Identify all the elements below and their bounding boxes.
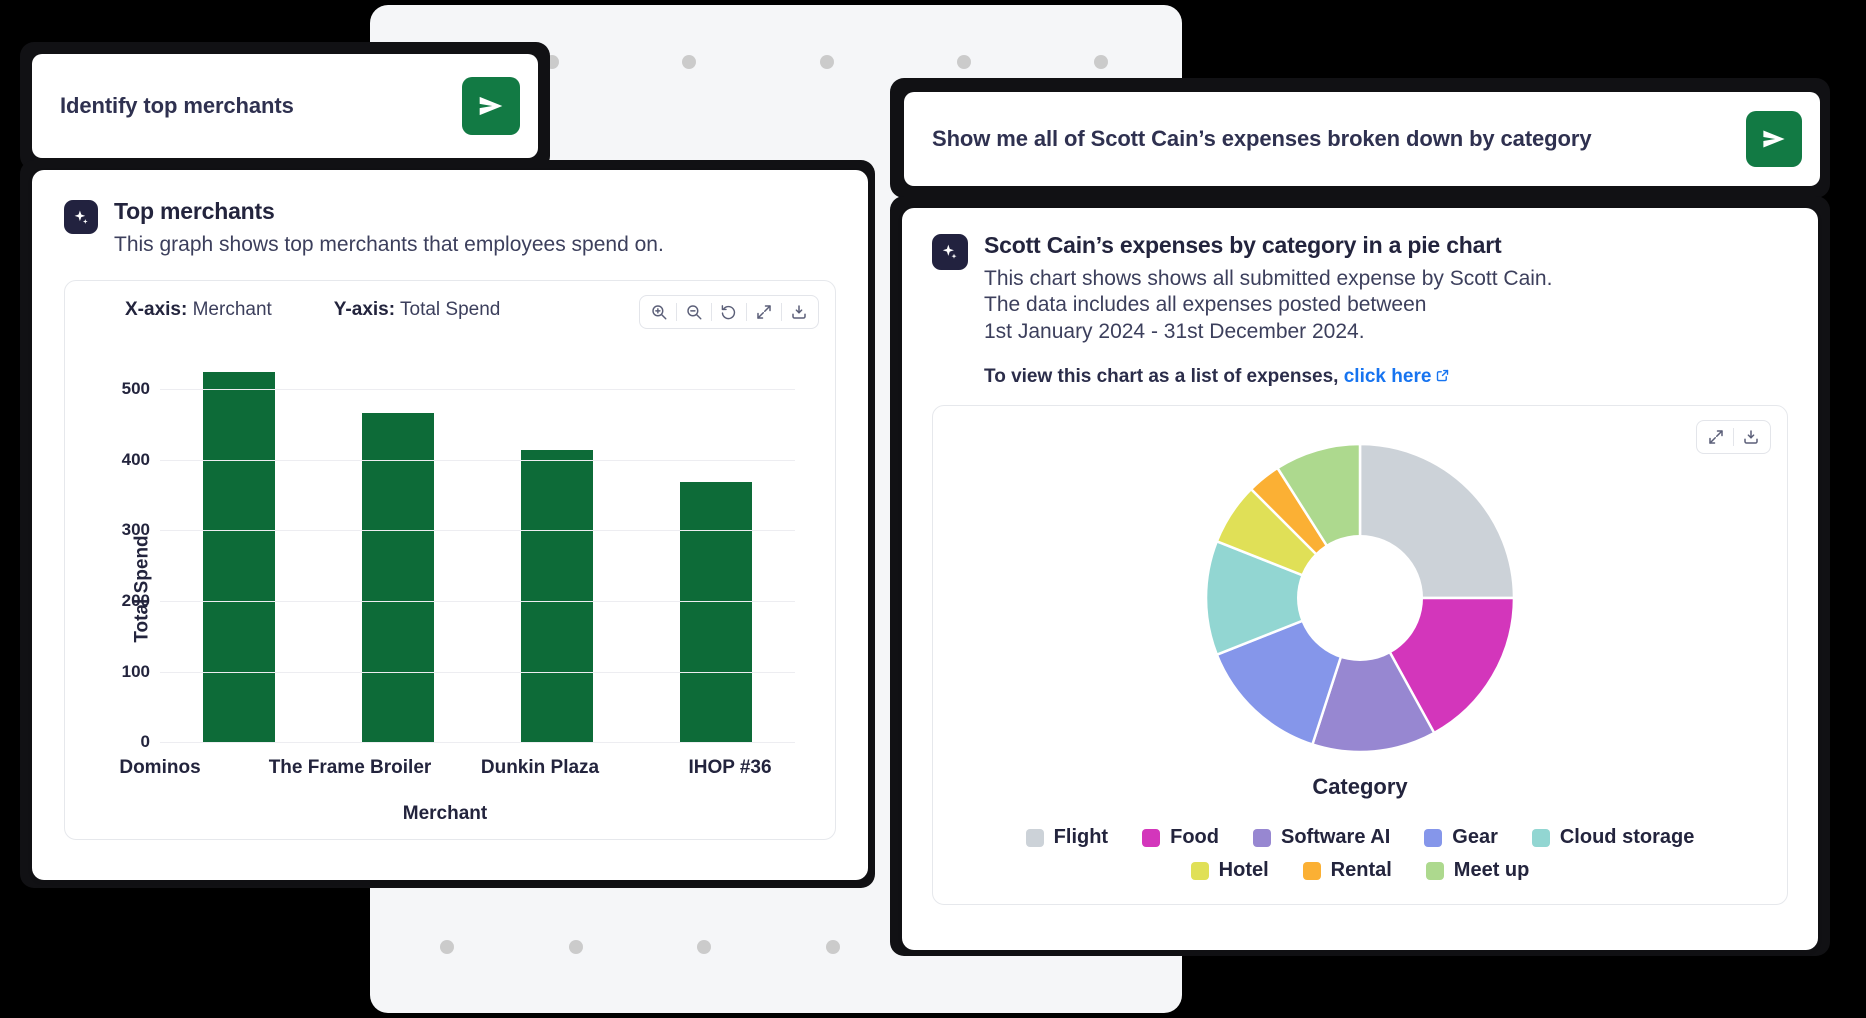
right-prompt-bar[interactable]: Show me all of Scott Cain’s expenses bro…	[904, 92, 1820, 186]
legend-label: Meet up	[1454, 859, 1530, 882]
expand-icon[interactable]	[747, 296, 781, 328]
legend-item[interactable]: Food	[1142, 826, 1219, 849]
link-prefix-text: To view this chart as a list of expenses…	[984, 366, 1338, 387]
right-card-description: This chart shows shows all submitted exp…	[984, 266, 1788, 347]
donut-chart[interactable]	[1204, 442, 1516, 754]
x-tick-label: Dominos	[76, 757, 243, 779]
sheet-dots-bottom	[440, 940, 840, 954]
desc-line-3: 1st January 2024 - 31st December 2024.	[984, 319, 1788, 346]
reset-icon[interactable]	[712, 296, 746, 328]
bar-x-tick-labels: DominosThe Frame BroilerDunkin PlazaIHOP…	[65, 757, 825, 779]
x-tick-label: The Frame Broiler	[266, 757, 433, 779]
legend-item[interactable]: Rental	[1303, 859, 1392, 882]
legend-swatch	[1142, 829, 1160, 847]
desc-line-1: This chart shows shows all submitted exp…	[984, 266, 1788, 293]
legend-item[interactable]: Hotel	[1191, 859, 1269, 882]
legend-item[interactable]: Meet up	[1426, 859, 1530, 882]
bar[interactable]	[521, 450, 593, 743]
bar-chart-frame: X-axis: Merchant Y-axis: Total Spend	[64, 280, 836, 840]
dot	[440, 940, 454, 954]
legend-swatch	[1303, 862, 1321, 880]
right-prompt-text: Show me all of Scott Cain’s expenses bro…	[932, 126, 1591, 152]
legend-title: Category	[933, 774, 1787, 800]
x-axis-key: X-axis:	[125, 299, 187, 320]
click-here-link[interactable]: click here	[1344, 366, 1432, 387]
dot	[1094, 55, 1108, 69]
right-card-header: Scott Cain’s expenses by category in a p…	[932, 232, 1788, 389]
x-tick-label: Dunkin Plaza	[456, 757, 623, 779]
bar-y-axis-title: Total Spend	[132, 536, 154, 643]
legend-item[interactable]: Software AI	[1253, 826, 1390, 849]
legend-label: Flight	[1054, 826, 1108, 849]
zoom-in-icon[interactable]	[642, 296, 676, 328]
y-tick-label: 0	[141, 732, 150, 752]
left-card-title: Top merchants	[114, 198, 836, 226]
dot	[682, 55, 696, 69]
x-tick-label: IHOP #36	[646, 757, 813, 779]
bar-column[interactable]	[170, 347, 310, 743]
dot	[820, 55, 834, 69]
view-as-list-line: To view this chart as a list of expenses…	[984, 366, 1788, 389]
download-icon[interactable]	[782, 296, 816, 328]
y-axis-value: Total Spend	[400, 299, 500, 320]
zoom-out-icon[interactable]	[677, 296, 711, 328]
desc-line-2: The data includes all expenses posted be…	[984, 292, 1788, 319]
dot	[569, 940, 583, 954]
legend-label: Food	[1170, 826, 1219, 849]
y-tick-label: 300	[122, 520, 150, 540]
gridline: 300	[160, 530, 795, 531]
right-send-button[interactable]	[1746, 111, 1802, 167]
legend-label: Gear	[1452, 826, 1498, 849]
ai-sparkle-icon	[932, 234, 968, 270]
y-axis-key: Y-axis:	[334, 299, 395, 320]
bar[interactable]	[362, 413, 434, 743]
legend-swatch	[1191, 862, 1209, 880]
bar[interactable]	[203, 372, 275, 743]
legend-label: Software AI	[1281, 826, 1390, 849]
pie-chart-frame: Category FlightFoodSoftware AIGearCloud …	[932, 405, 1788, 905]
y-tick-label: 400	[122, 450, 150, 470]
bar-chart-toolbar[interactable]	[639, 295, 819, 329]
bar-column[interactable]	[646, 347, 786, 743]
gridline: 200	[160, 601, 795, 602]
bar[interactable]	[680, 482, 752, 744]
bar-plot: Total Spend 0100200300400500 DominosThe …	[65, 339, 825, 839]
gridline: 500	[160, 389, 795, 390]
dot	[826, 940, 840, 954]
send-paper-plane-icon	[1759, 124, 1789, 154]
legend-swatch	[1026, 829, 1044, 847]
dot	[957, 55, 971, 69]
external-link-icon	[1435, 367, 1450, 389]
left-card-description: This graph shows top merchants that empl…	[114, 232, 836, 259]
legend-label: Hotel	[1219, 859, 1269, 882]
left-prompt-text: Identify top merchants	[60, 93, 294, 119]
bar-column[interactable]	[328, 347, 468, 743]
gridline: 100	[160, 672, 795, 673]
legend-row-secondary: HotelRentalMeet up	[933, 859, 1787, 882]
left-result-card: Top merchants This graph shows top merch…	[32, 170, 868, 880]
legend-swatch	[1424, 829, 1442, 847]
bar-column[interactable]	[487, 347, 627, 743]
dot	[697, 940, 711, 954]
legend-row-primary: FlightFoodSoftware AIGearCloud storage	[933, 826, 1787, 849]
left-send-button[interactable]	[462, 77, 520, 135]
legend-item[interactable]: Cloud storage	[1532, 826, 1694, 849]
pie-legend: FlightFoodSoftware AIGearCloud storage H…	[933, 816, 1787, 882]
legend-swatch	[1426, 862, 1444, 880]
y-tick-label: 200	[122, 591, 150, 611]
y-tick-label: 100	[122, 662, 150, 682]
donut-chart-area: Category FlightFoodSoftware AIGearCloud …	[933, 432, 1787, 904]
ai-sparkle-icon	[64, 200, 98, 234]
bar-x-axis-title: Merchant	[65, 803, 825, 825]
legend-item[interactable]: Flight	[1026, 826, 1108, 849]
legend-label: Rental	[1331, 859, 1392, 882]
x-axis-value: Merchant	[193, 299, 272, 320]
axis-label-row: X-axis: Merchant Y-axis: Total Spend	[125, 299, 500, 321]
x-axis-label: X-axis: Merchant	[125, 299, 272, 321]
bar-plot-area: 0100200300400500	[160, 347, 795, 743]
bar-series	[160, 347, 795, 743]
y-tick-label: 500	[122, 379, 150, 399]
gridline: 400	[160, 460, 795, 461]
right-card-title: Scott Cain’s expenses by category in a p…	[984, 232, 1788, 260]
send-paper-plane-icon	[475, 90, 507, 122]
legend-item[interactable]: Gear	[1424, 826, 1498, 849]
left-prompt-bar[interactable]: Identify top merchants	[32, 54, 538, 158]
right-result-card: Scott Cain’s expenses by category in a p…	[902, 208, 1818, 950]
legend-swatch	[1253, 829, 1271, 847]
donut-center-hole	[1297, 535, 1423, 661]
left-card-header: Top merchants This graph shows top merch…	[64, 198, 836, 258]
legend-swatch	[1532, 829, 1550, 847]
legend-label: Cloud storage	[1560, 826, 1694, 849]
gridline: 0	[160, 742, 795, 743]
y-axis-label: Y-axis: Total Spend	[334, 299, 501, 321]
